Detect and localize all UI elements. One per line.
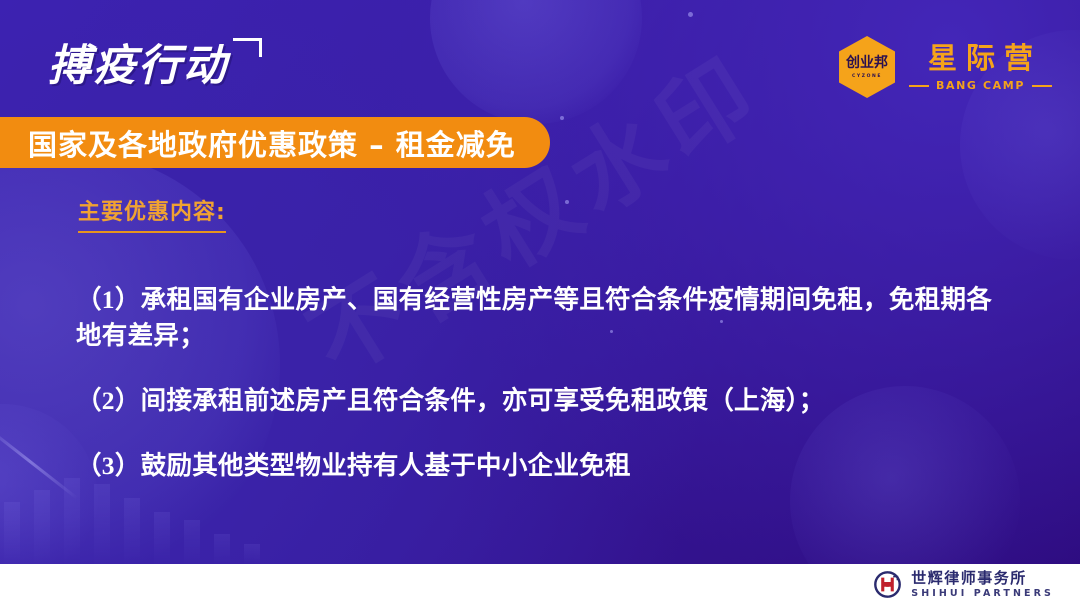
list-item: （1）承租国有企业房产、国有经营性房产等且符合条件疫情期间免租，免租期各地有差异… <box>76 282 1010 356</box>
decorative-circle-top-middle <box>430 0 642 124</box>
list-item: （3）鼓励其他类型物业持有人基于中小企业免租 <box>76 448 1010 485</box>
law-firm-name-cn: 世辉律师事务所 <box>911 570 1054 587</box>
cyzone-hexagon-badge-icon: 创业邦 CYZONE <box>839 36 895 98</box>
corner-bracket-icon <box>233 38 262 57</box>
campaign-brand-mark: 搏疫行动 <box>48 36 228 96</box>
partner-name-cn: 星际营 <box>919 42 1042 74</box>
campaign-brand-wordmark: 搏疫行动 <box>48 36 228 96</box>
section-subheading: 主要优惠内容: <box>78 194 226 233</box>
shihui-circle-emblem-icon <box>873 570 902 599</box>
cyzone-badge-en: CYZONE <box>852 74 882 79</box>
page-title: 国家及各地政府优惠政策 – 租金减免 <box>28 122 516 164</box>
partner-name-en-row: BANG CAMP <box>909 79 1052 92</box>
decorative-speck <box>560 116 564 120</box>
cyzone-badge-cn: 创业邦 <box>846 56 888 70</box>
partner-name-en: BANG CAMP <box>936 79 1025 92</box>
content-list: （1）承租国有企业房产、国有经营性房产等且符合条件疫情期间免租，免租期各地有差异… <box>76 256 1010 485</box>
presentation-slide: 不含权水印 搏疫行动 创业邦 CYZONE 星际营 BANG CAMP <box>0 0 1080 608</box>
decorative-speck <box>565 200 569 204</box>
partner-logo: 创业邦 CYZONE 星际营 BANG CAMP <box>839 36 1052 98</box>
rule-left-icon <box>909 85 929 87</box>
law-firm-name-block: 世辉律师事务所 SHIHUI PARTNERS <box>911 570 1054 599</box>
law-firm-logo: 世辉律师事务所 SHIHUI PARTNERS <box>873 570 1054 599</box>
law-firm-name-en: SHIHUI PARTNERS <box>911 588 1054 600</box>
rule-right-icon <box>1032 85 1052 87</box>
slide-footer: 世辉律师事务所 SHIHUI PARTNERS <box>0 564 1080 608</box>
slide-title-banner: 国家及各地政府优惠政策 – 租金减免 <box>0 117 550 168</box>
partner-logo-text: 星际营 BANG CAMP <box>909 42 1052 92</box>
list-item: （2）间接承租前述房产且符合条件，亦可享受免租政策（上海）； <box>76 383 1010 420</box>
slide-background: 不含权水印 搏疫行动 创业邦 CYZONE 星际营 BANG CAMP <box>0 0 1080 564</box>
decorative-speck <box>688 12 693 17</box>
